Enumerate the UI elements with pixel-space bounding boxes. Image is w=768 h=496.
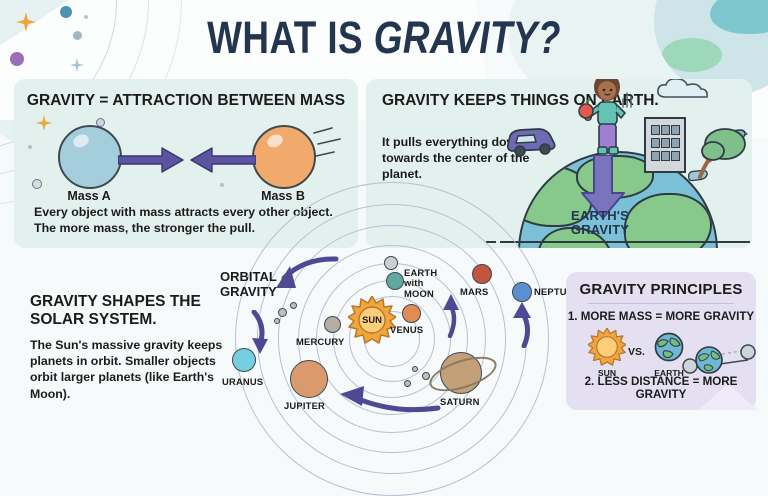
planet-venus	[402, 304, 421, 323]
asteroid-icon	[290, 302, 297, 309]
planet-label-jupiter: JUPITER	[284, 400, 325, 411]
principles-heading: GRAVITY PRINCIPLES	[566, 281, 756, 298]
earth-illustration: EARTH'S GRAVITY	[496, 79, 752, 248]
planet-label-mars: MARS	[460, 286, 488, 297]
infographic-canvas: WHAT IS GRAVITY? GRAVITY = ATTRACTION BE…	[0, 0, 768, 417]
girl-illustration	[574, 79, 636, 163]
principle-rule-2: 2. LESS DISTANCE = MORE GRAVITY	[566, 375, 756, 401]
sun-label: SUN	[348, 314, 396, 325]
sphere-mass-a	[58, 125, 122, 189]
planet-uranus	[232, 348, 256, 372]
principle-rule-1: 1. MORE MASS = MORE GRAVITY	[566, 310, 756, 323]
mass-decor-dot-2	[32, 179, 42, 189]
card-gravity-principles: GRAVITY PRINCIPLES 1. MORE MASS = MORE G…	[566, 272, 756, 410]
planet-earth	[386, 272, 404, 290]
planet-jupiter	[290, 360, 328, 398]
solar-section-body: The Sun's massive gravity keeps planets …	[30, 337, 242, 402]
earths-gravity-label: EARTH'S GRAVITY	[546, 209, 654, 238]
planet-label-earth: EARTH with MOON	[404, 268, 450, 299]
arrow-right-icon	[118, 147, 184, 178]
label-mass-a: Mass A	[46, 189, 132, 203]
card-mass-heading: GRAVITY = ATTRACTION BETWEEN MASS	[14, 92, 358, 110]
planet-neptune	[512, 282, 532, 302]
orbit-arrow-bottom-icon	[330, 380, 442, 419]
asteroid-icon	[422, 372, 430, 380]
planet-label-uranus: URANUS	[222, 376, 263, 387]
planet-mars	[472, 264, 492, 284]
planet-mercury	[324, 316, 341, 333]
asteroid-icon	[278, 308, 287, 317]
mass-decor-dot-3	[28, 145, 32, 149]
orbit-arrow-top-icon	[262, 256, 340, 307]
decor-star-orange	[16, 12, 36, 32]
moon-icon	[384, 256, 398, 270]
versus-label: VS.	[628, 346, 645, 358]
page-title: WHAT IS GRAVITY?	[69, 12, 699, 64]
planet-label-venus: VENUS	[390, 324, 423, 335]
principles-divider	[588, 303, 734, 304]
asteroid-icon	[404, 380, 411, 387]
principles-sun-icon	[588, 328, 626, 371]
arrow-left-icon	[190, 147, 256, 178]
cloud-icon	[656, 79, 710, 97]
tree-icon	[692, 127, 748, 184]
orbit-arrow-inner-icon	[440, 292, 462, 343]
car-icon	[504, 123, 560, 162]
mass-decor-star	[36, 115, 52, 131]
solar-section-heading: GRAVITY SHAPES THE SOLAR SYSTEM.	[30, 293, 236, 330]
asteroid-icon	[412, 366, 418, 372]
asteroid-icon	[274, 318, 280, 324]
motion-lines-icon	[310, 127, 344, 172]
ground-line	[500, 241, 750, 243]
decor-dot-purple	[10, 52, 24, 66]
planet-label-saturn: SATURN	[440, 396, 480, 407]
label-mass-b: Mass B	[240, 189, 326, 203]
principles-earth-icon	[654, 332, 684, 367]
solar-system-diagram: ORBITAL GRAVITY	[218, 260, 566, 417]
planet-label-mercury: MERCURY	[296, 336, 344, 347]
sphere-mass-b	[252, 125, 316, 189]
page-title-plain: WHAT IS	[207, 12, 374, 63]
building-icon	[644, 117, 686, 173]
mass-attraction-diagram: Mass A Mass B	[14, 115, 358, 201]
orbit-arrow-right-icon	[506, 300, 536, 353]
page-title-italic: GRAVITY?	[374, 12, 561, 63]
mass-decor-dot-5	[220, 183, 224, 187]
